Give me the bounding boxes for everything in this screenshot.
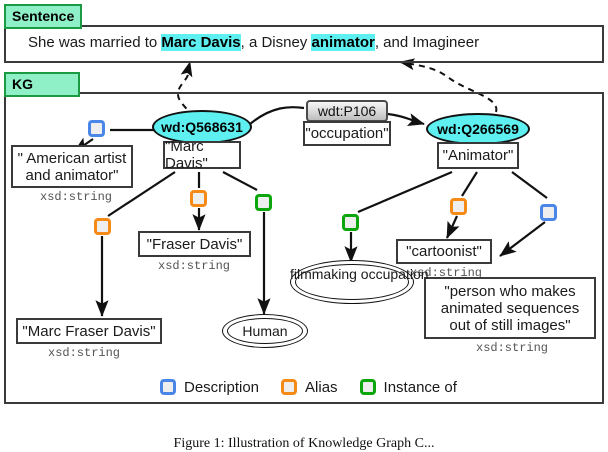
tab-kg[interactable]: KG [4, 72, 80, 97]
figure-caption: Figure 1: Illustration of Knowledge Grap… [4, 436, 604, 452]
legend-swatch-instance-of-icon [360, 379, 376, 395]
literal-node-american-artist: " American artist and animator" [11, 145, 133, 188]
legend-label-description: Description [184, 379, 259, 396]
edge-marker-alias-cartoonist[interactable] [450, 198, 467, 215]
sentence-mention-1: Marc Davis [161, 34, 240, 51]
legend-swatch-alias-icon [281, 379, 297, 395]
legend-item-alias: Alias [281, 379, 338, 396]
sentence-text: She was married to Marc Davis, a Disney … [28, 33, 479, 53]
datatype-person-who-makes: xsd:string [476, 341, 548, 355]
sentence-mention-3: animator [311, 34, 374, 51]
legend-item-instance-of: Instance of [360, 379, 457, 396]
class-node-filmmaking-occupation: filmmaking occupation [290, 267, 414, 282]
legend: Description Alias Instance of [160, 376, 457, 398]
predicate-node-p106-uri[interactable]: wdt:P106 [306, 100, 388, 122]
edge-marker-alias-fraser-davis[interactable] [190, 190, 207, 207]
datatype-fraser-davis: xsd:string [158, 259, 230, 273]
datatype-american-artist: xsd:string [40, 190, 112, 204]
edge-marker-instanceof-human[interactable] [255, 194, 272, 211]
literal-node-marc-fraser-davis: "Marc Fraser Davis" [16, 318, 162, 344]
tab-sentence[interactable]: Sentence [4, 4, 82, 29]
edge-marker-alias-marc-fraser-davis[interactable] [94, 218, 111, 235]
legend-item-description: Description [160, 379, 259, 396]
sentence-plain-4: , and Imagineer [375, 34, 479, 51]
class-node-human[interactable]: Human [227, 318, 303, 344]
edge-marker-description-animator[interactable] [540, 204, 557, 221]
entity-node-animator-label[interactable]: "Animator" [437, 142, 519, 169]
literal-node-cartoonist: "cartoonist" [396, 239, 492, 264]
predicate-node-p106-label[interactable]: "occupation" [303, 121, 391, 146]
edge-marker-instanceof-filmmaking[interactable] [342, 214, 359, 231]
edge-marker-description-marc-davis[interactable] [88, 120, 105, 137]
legend-swatch-description-icon [160, 379, 176, 395]
legend-label-alias: Alias [305, 379, 338, 396]
entity-node-animator-uri[interactable]: wd:Q266569 [426, 113, 530, 145]
sentence-plain-0: She was married to [28, 34, 161, 51]
datatype-marc-fraser-davis: xsd:string [48, 346, 120, 360]
literal-node-fraser-davis: "Fraser Davis" [138, 231, 251, 257]
sentence-plain-2: , a Disney [241, 34, 312, 51]
legend-label-instance-of: Instance of [384, 379, 457, 396]
literal-node-person-who-makes: "person who makes animated sequences out… [424, 277, 596, 339]
figure-canvas: Sentence She was married to Marc Davis, … [0, 0, 608, 448]
entity-node-marc-davis-label[interactable]: "Marc Davis" [163, 141, 241, 169]
